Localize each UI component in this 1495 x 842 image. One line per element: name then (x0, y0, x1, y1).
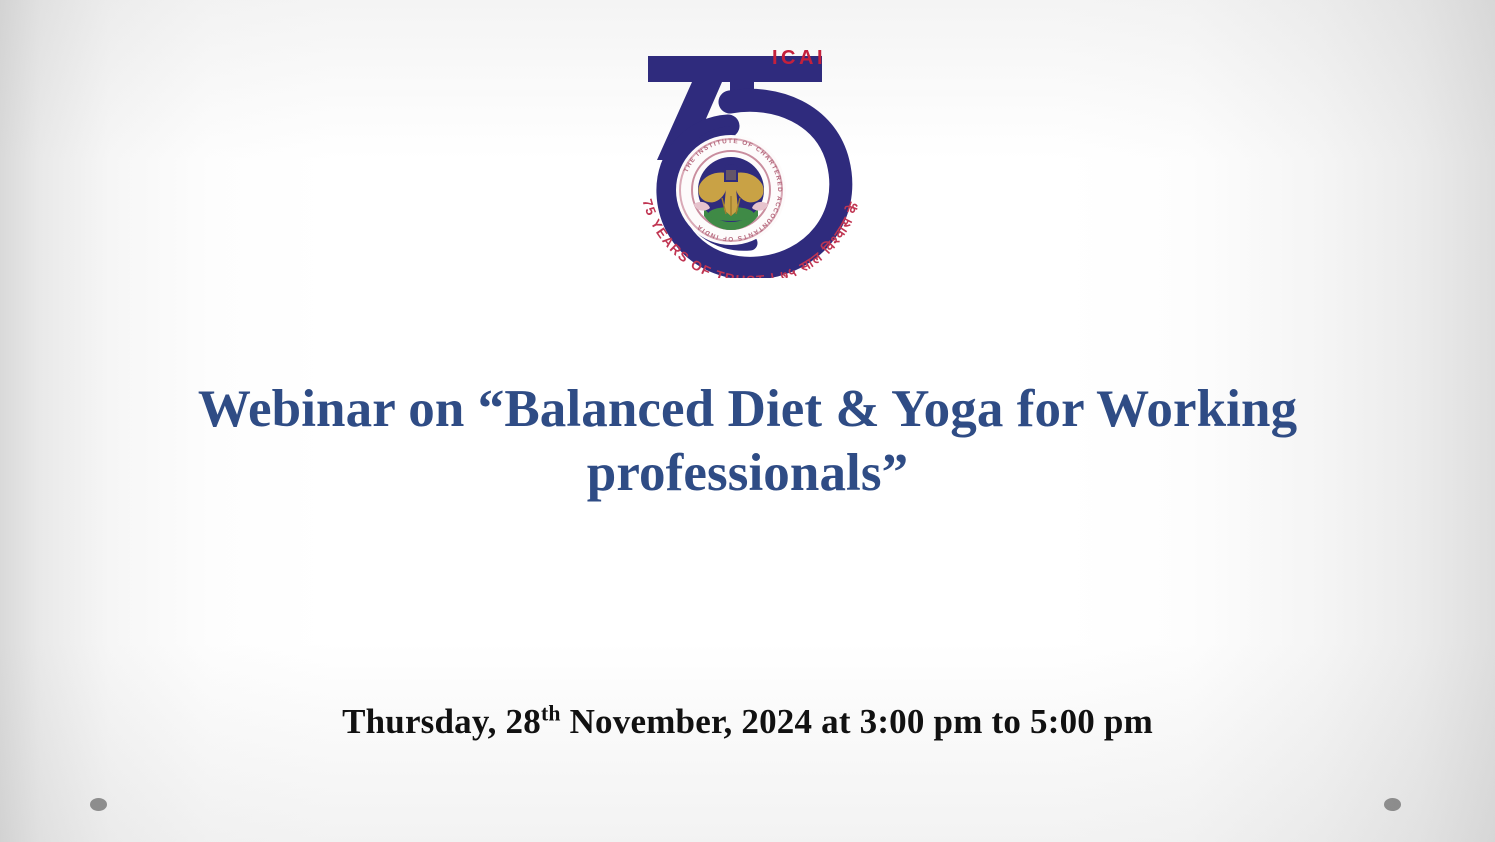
slide-title: Webinar on “Balanced Diet & Yoga for Wor… (0, 377, 1495, 505)
slide-title-line-2: professionals” (130, 441, 1365, 505)
logo-icai-wordmark: ICAI (772, 47, 826, 69)
event-day-suffix: th (541, 701, 561, 725)
event-datetime: Thursday, 28th November, 2024 at 3:00 pm… (0, 700, 1495, 744)
bottom-right-dot (1384, 798, 1401, 811)
event-datetime-line: Thursday, 28th November, 2024 at 3:00 pm… (0, 700, 1495, 744)
event-weekday: Thursday, (342, 702, 497, 741)
icai-75-years-logo-graphic: ICAI THE INSTITUTE OF CHARTERED ACCOUNTA… (626, 38, 876, 278)
icai-75-years-logo: ICAI THE INSTITUTE OF CHARTERED ACCOUNTA… (626, 38, 876, 278)
slide-title-line-1: Webinar on “Balanced Diet & Yoga for Wor… (130, 377, 1365, 441)
presentation-slide: ICAI THE INSTITUTE OF CHARTERED ACCOUNTA… (0, 0, 1495, 842)
bottom-left-dot (90, 798, 107, 811)
event-month-year: November, 2024 (570, 702, 813, 741)
logo-central-seal: THE INSTITUTE OF CHARTERED ACCOUNTANTS O… (676, 135, 786, 245)
event-day: 28 (506, 702, 541, 741)
event-time-phrase: at 3:00 pm to 5:00 pm (821, 702, 1153, 741)
